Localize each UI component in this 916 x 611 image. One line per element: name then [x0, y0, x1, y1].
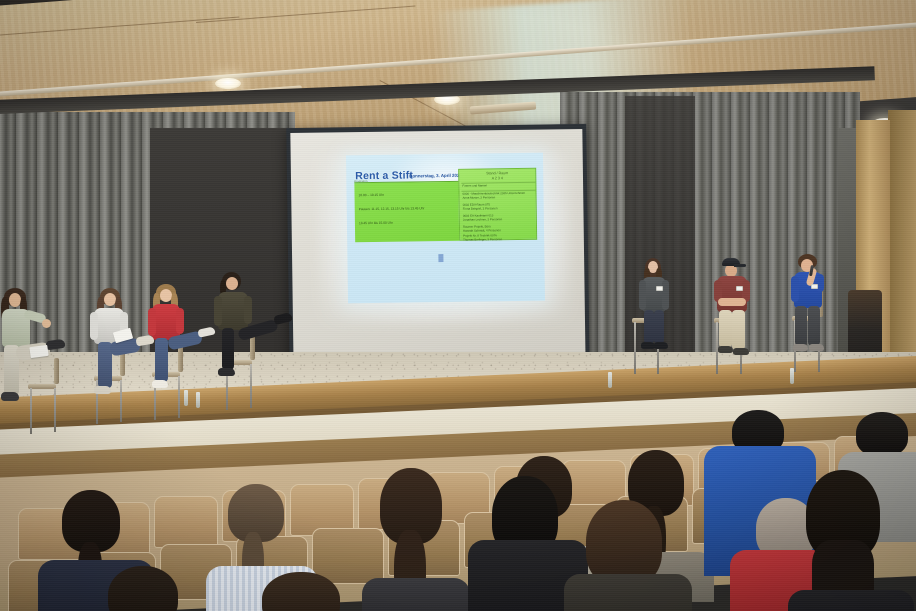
slide-left-row: 13.45 Uhr bis 15.00 Uhr: [359, 221, 393, 225]
name-badge: [811, 284, 818, 289]
water-bottle: [196, 392, 200, 408]
name-badge: [656, 286, 663, 291]
auditorium-photo: Rent a Stift Donnerstag, 3. April 2025 P…: [0, 0, 916, 611]
slide-left-row: 10.00 – 10.15 Uhr: [359, 193, 385, 197]
water-bottle: [790, 368, 794, 384]
name-badge: [736, 286, 743, 291]
slide-logo-mark: [438, 254, 443, 262]
water-bottle: [184, 390, 188, 406]
slide-left-table: 10.00 – 10.15 Uhr Pausen: 11.15, 12.15, …: [354, 181, 459, 242]
slide-right-subhead: Firmen und Namen: [462, 184, 487, 188]
slide-right-row-line2: Jonathan Lechner, 2 Personen: [463, 218, 502, 222]
crossed-arms: [718, 298, 746, 306]
slide-right-row-line2: Anna Muster, 2 Personen: [463, 196, 496, 200]
gesturing-hand: [42, 319, 51, 328]
slide-left-row: Pausen: 11.15, 12.15, 13.15 Uhr bis 13.4…: [359, 206, 425, 211]
slide-right-row-line2: Thomas Berlinger, 3 Personen: [463, 238, 502, 242]
water-bottle: [608, 372, 612, 388]
ceiling-downlight: [215, 78, 241, 89]
slide-date: Donnerstag, 3. April 2025: [409, 173, 462, 179]
auditorium-seat[interactable]: [154, 496, 218, 548]
slide-right-table: Stand / Raum A 2 3 4 Firmen und Namen 00…: [458, 168, 537, 241]
projected-slide: Rent a Stift Donnerstag, 3. April 2025 P…: [346, 153, 545, 304]
slide-right-row-line2: Firma Beispiel, 3 Personen: [463, 207, 498, 211]
cap-brim: [734, 264, 746, 267]
